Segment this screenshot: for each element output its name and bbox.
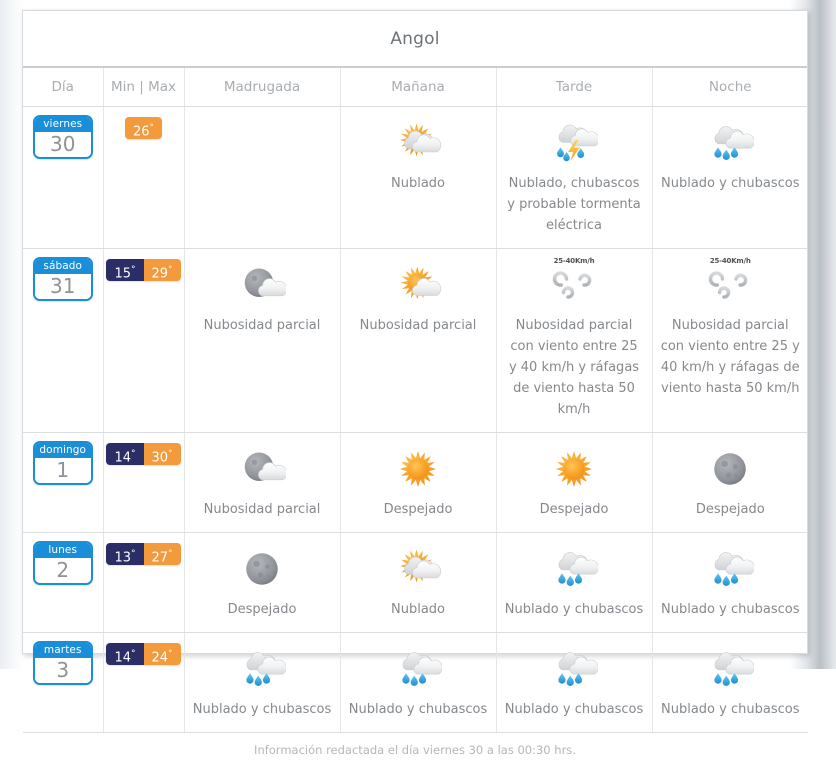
temperature-chips: 14°24° (106, 643, 180, 665)
forecast-description: Nubosidad parcial (193, 315, 332, 336)
calendar-badge: martes3 (33, 641, 93, 685)
temp-min-badge: 15° (106, 259, 143, 281)
column-header-manana: Mañana (340, 68, 496, 106)
calendar-badge: lunes2 (33, 541, 93, 585)
temp-min-value: 15 (114, 266, 131, 281)
cloud-rain-icon (661, 117, 801, 169)
table-header-row: DíaMin | MaxMadrugadaMañanaTardeNoche (23, 68, 808, 106)
forecast-description: Nublado y chubascos (661, 599, 801, 620)
sun-small-cloud-icon (349, 259, 488, 311)
temperature-cell: 26° (103, 106, 184, 248)
degree-symbol: ° (168, 549, 173, 559)
temp-max-badge: 30° (144, 443, 181, 465)
forecast-table: DíaMin | MaxMadrugadaMañanaTardeNoche vi… (23, 68, 808, 733)
forecast-description: Nubosidad parcial con viento entre 25 y … (505, 315, 644, 420)
day-name: lunes (35, 543, 91, 558)
day-cell: sábado31 (23, 248, 103, 432)
forecast-slot-noche: Nublado y chubascos (652, 106, 808, 248)
moon-icon (193, 543, 332, 595)
temp-min-badge: 14° (106, 443, 143, 465)
calendar-badge: viernes30 (33, 115, 93, 159)
forecast-slot-madrugada: Nubosidad parcial (184, 432, 340, 532)
forecast-slot-madrugada (184, 106, 340, 248)
table-body: viernes3026°NubladoNublado, chubascos y … (23, 106, 808, 732)
temperature-cell: 14°24° (103, 632, 184, 732)
table-row: sábado3115°29°Nubosidad parcialNubosidad… (23, 248, 808, 432)
forecast-slot-madrugada: Nublado y chubascos (184, 632, 340, 732)
forecast-slot-noche: Despejado (652, 432, 808, 532)
day-cell: lunes2 (23, 532, 103, 632)
sun-cloud-icon (349, 117, 488, 169)
page-title: Angol (390, 29, 439, 49)
column-header-dia: Día (23, 68, 103, 106)
forecast-description: Nublado y chubascos (505, 599, 644, 620)
moon-cloud-icon (193, 259, 332, 311)
footer-note: Información redactada el día viernes 30 … (254, 743, 576, 757)
forecast-slot-manana: Nublado (340, 532, 496, 632)
cloud-rain-icon (505, 543, 644, 595)
sun-icon (505, 443, 644, 495)
day-name: martes (35, 643, 91, 658)
day-number: 3 (35, 658, 91, 683)
forecast-description: Nublado, chubascos y probable tormenta e… (505, 173, 644, 236)
forecast-slot-noche: 25-40Km/hNubosidad parcial con viento en… (652, 248, 808, 432)
calendar-badge: domingo1 (33, 441, 93, 485)
day-cell: viernes30 (23, 106, 103, 248)
panel-header: Angol (23, 11, 807, 68)
temp-max-value: 30 (152, 450, 169, 465)
wind-speed-label: 25-40Km/h (710, 257, 751, 265)
forecast-description: Nublado y chubascos (349, 699, 488, 720)
forecast-slot-tarde: 25-40Km/hNubosidad parcial con viento en… (496, 248, 652, 432)
column-header-noche: Noche (652, 68, 808, 106)
cloud-rain-icon (661, 543, 801, 595)
wind-speed-label: 25-40Km/h (554, 257, 595, 265)
degree-symbol: ° (131, 265, 136, 275)
temp-min-value: 14 (114, 650, 131, 665)
temp-max-value: 26 (133, 124, 150, 139)
temperature-chips: 15°29° (106, 259, 180, 281)
temp-min-value: 14 (114, 450, 131, 465)
degree-symbol: ° (131, 649, 136, 659)
day-name: sábado (35, 259, 91, 274)
temperature-cell: 15°29° (103, 248, 184, 432)
forecast-slot-madrugada: Nubosidad parcial (184, 248, 340, 432)
forecast-slot-manana: Nublado (340, 106, 496, 248)
forecast-slot-noche: Nublado y chubascos (652, 532, 808, 632)
degree-symbol: ° (168, 649, 173, 659)
forecast-panel: Angol DíaMin | MaxMadrugadaMañanaTardeNo… (22, 10, 808, 654)
forecast-slot-tarde: Nublado y chubascos (496, 632, 652, 732)
forecast-slot-tarde: Despejado (496, 432, 652, 532)
temperature-chips: 13°27° (106, 543, 180, 565)
temp-max-value: 29 (152, 266, 169, 281)
day-cell: domingo1 (23, 432, 103, 532)
degree-symbol: ° (168, 449, 173, 459)
temperature-cell: 13°27° (103, 532, 184, 632)
forecast-slot-madrugada: Despejado (184, 532, 340, 632)
forecast-description: Nublado (349, 599, 488, 620)
forecast-slot-manana: Despejado (340, 432, 496, 532)
sun-cloud-icon (349, 543, 488, 595)
day-number: 2 (35, 558, 91, 583)
temp-max-badge: 24° (144, 643, 181, 665)
forecast-description: Despejado (193, 599, 332, 620)
wind-icon: 25-40Km/h (505, 259, 644, 311)
forecast-description: Nublado y chubascos (193, 699, 332, 720)
table-row: viernes3026°NubladoNublado, chubascos y … (23, 106, 808, 248)
day-number: 30 (35, 132, 91, 157)
forecast-slot-manana: Nublado y chubascos (340, 632, 496, 732)
forecast-slot-manana: Nubosidad parcial (340, 248, 496, 432)
column-header-minmax: Min | Max (103, 68, 184, 106)
temp-min-value: 13 (114, 550, 131, 565)
day-name: domingo (35, 443, 91, 458)
column-header-tarde: Tarde (496, 68, 652, 106)
wind-icon: 25-40Km/h (661, 259, 801, 311)
moon-icon (661, 443, 801, 495)
forecast-slot-noche: Nublado y chubascos (652, 632, 808, 732)
degree-symbol: ° (150, 123, 155, 133)
temp-max-value: 27 (152, 550, 169, 565)
temp-max-badge: 29° (144, 259, 181, 281)
temperature-chips: 14°30° (106, 443, 180, 465)
sun-icon (349, 443, 488, 495)
degree-symbol: ° (131, 449, 136, 459)
table-row: martes314°24°Nublado y chubascosNublado … (23, 632, 808, 732)
day-cell: martes3 (23, 632, 103, 732)
day-number: 1 (35, 458, 91, 483)
page-background: Angol DíaMin | MaxMadrugadaMañanaTardeNo… (0, 0, 836, 669)
forecast-description: Nublado y chubascos (661, 173, 801, 194)
moon-cloud-icon (193, 443, 332, 495)
temp-min-badge: 14° (106, 643, 143, 665)
forecast-description: Nublado y chubascos (661, 699, 801, 720)
forecast-description: Nublado y chubascos (505, 699, 644, 720)
forecast-description: Nubosidad parcial (349, 315, 488, 336)
day-number: 31 (35, 274, 91, 299)
forecast-description: Nubosidad parcial con viento entre 25 y … (661, 315, 801, 399)
temp-max-badge: 26° (125, 117, 162, 139)
temp-max-value: 24 (152, 650, 169, 665)
forecast-description: Despejado (349, 499, 488, 520)
temperature-cell: 14°30° (103, 432, 184, 532)
forecast-slot-tarde: Nublado y chubascos (496, 532, 652, 632)
forecast-description: Nublado (349, 173, 488, 194)
table-row: lunes213°27°DespejadoNubladoNublado y ch… (23, 532, 808, 632)
forecast-description: Nubosidad parcial (193, 499, 332, 520)
table-row: domingo114°30°Nubosidad parcialDespejado… (23, 432, 808, 532)
degree-symbol: ° (131, 549, 136, 559)
panel-footer: Información redactada el día viernes 30 … (23, 733, 807, 767)
temperature-chips: 26° (125, 117, 162, 139)
column-header-madrugada: Madrugada (184, 68, 340, 106)
forecast-description: Despejado (661, 499, 801, 520)
day-name: viernes (35, 117, 91, 132)
degree-symbol: ° (168, 265, 173, 275)
forecast-slot-tarde: Nublado, chubascos y probable tormenta e… (496, 106, 652, 248)
temp-min-badge: 13° (106, 543, 143, 565)
temp-max-badge: 27° (144, 543, 181, 565)
empty-slot (185, 107, 340, 117)
forecast-description: Despejado (505, 499, 644, 520)
calendar-badge: sábado31 (33, 257, 93, 301)
storm-rain-icon (505, 117, 644, 169)
